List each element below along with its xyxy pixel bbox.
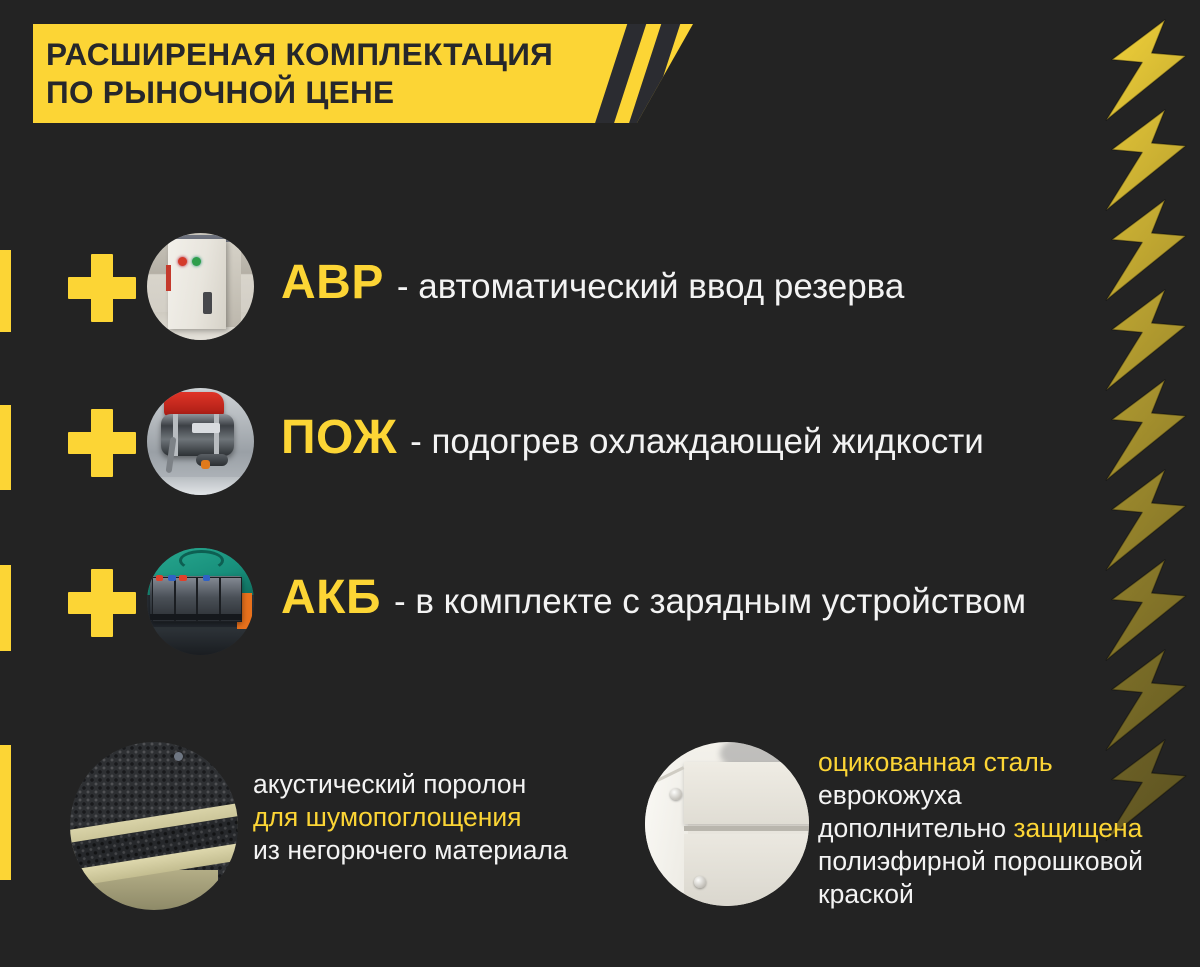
bottom-block-galvanized-steel: оцикованная сталь еврокожуха дополнитель… (630, 730, 1100, 940)
lightning-bolt-icon (1098, 378, 1194, 482)
header-banner: РАСШИРЕНАЯ КОМПЛЕКТАЦИЯ ПО РЫНОЧНОЙ ЦЕНЕ (33, 24, 693, 123)
feature-text-pozh: ПОЖ - подогрев охлаждающей жидкости (281, 414, 984, 462)
feature-text-avr: АВР - автоматический ввод резерва (281, 259, 904, 307)
feature-desc: - подогрев охлаждающей жидкости (410, 422, 984, 462)
acoustic-foam-text: акустический поролон для шумопоглощения … (253, 768, 568, 867)
banner-title: РАСШИРЕНАЯ КОМПЛЕКТАЦИЯ ПО РЫНОЧНОЙ ЦЕНЕ (46, 35, 553, 111)
feature-abbr: АКБ (281, 574, 381, 622)
lightning-bolt-icon (1098, 108, 1194, 212)
coolant-heater-photo (147, 388, 254, 495)
steel-line-4: полиэфирной порошковой (818, 845, 1143, 878)
slide-root: РАСШИРЕНАЯ КОМПЛЕКТАЦИЯ ПО РЫНОЧНОЙ ЦЕНЕ (0, 0, 1200, 967)
foam-line-2-highlight: для шумопоглощения (253, 801, 568, 834)
foam-line-1: акустический поролон (253, 768, 568, 801)
feature-desc: - в комплекте с зарядным устройством (394, 582, 1026, 622)
feature-desc: - автоматический ввод резерва (397, 267, 905, 307)
steel-line-1-highlight: оцикованная сталь (818, 746, 1143, 779)
feature-row-akb: АКБ - в комплекте с зарядным устройством (0, 543, 1090, 663)
ats-cabinet-photo (147, 233, 254, 340)
plus-icon (68, 409, 136, 477)
lightning-bolt-icon (1098, 468, 1194, 572)
plus-icon (68, 569, 136, 637)
lightning-bolt-icon (1098, 288, 1194, 392)
steel-line-3: дополнительно защищена (818, 812, 1143, 845)
feature-abbr: АВР (281, 259, 384, 307)
steel-line-2: еврокожуха (818, 779, 1143, 812)
feature-abbr: ПОЖ (281, 414, 397, 462)
acoustic-foam-photo (70, 742, 238, 910)
lightning-bolt-icon (1098, 558, 1194, 662)
galvanized-steel-text: оцикованная сталь еврокожуха дополнитель… (818, 746, 1143, 911)
feature-row-pozh: ПОЖ - подогрев охлаждающей жидкости (0, 383, 1090, 503)
steel-line-5: краской (818, 878, 1143, 911)
battery-bank-photo (147, 548, 254, 655)
lightning-bolt-icon (1098, 18, 1194, 122)
bottom-block-acoustic-foam: акустический поролон для шумопоглощения … (0, 730, 620, 930)
lightning-bolt-icon (1098, 648, 1194, 752)
feature-row-avr: АВР - автоматический ввод резерва (0, 228, 1090, 348)
feature-text-akb: АКБ - в комплекте с зарядным устройством (281, 574, 1026, 622)
plus-icon (68, 254, 136, 322)
galvanized-steel-photo (645, 742, 809, 906)
lightning-bolt-icon (1098, 198, 1194, 302)
steel-line-3b-highlight: защищена (1013, 813, 1142, 843)
foam-line-3: из негорючего материала (253, 834, 568, 867)
steel-line-3a: дополнительно (818, 813, 1013, 843)
